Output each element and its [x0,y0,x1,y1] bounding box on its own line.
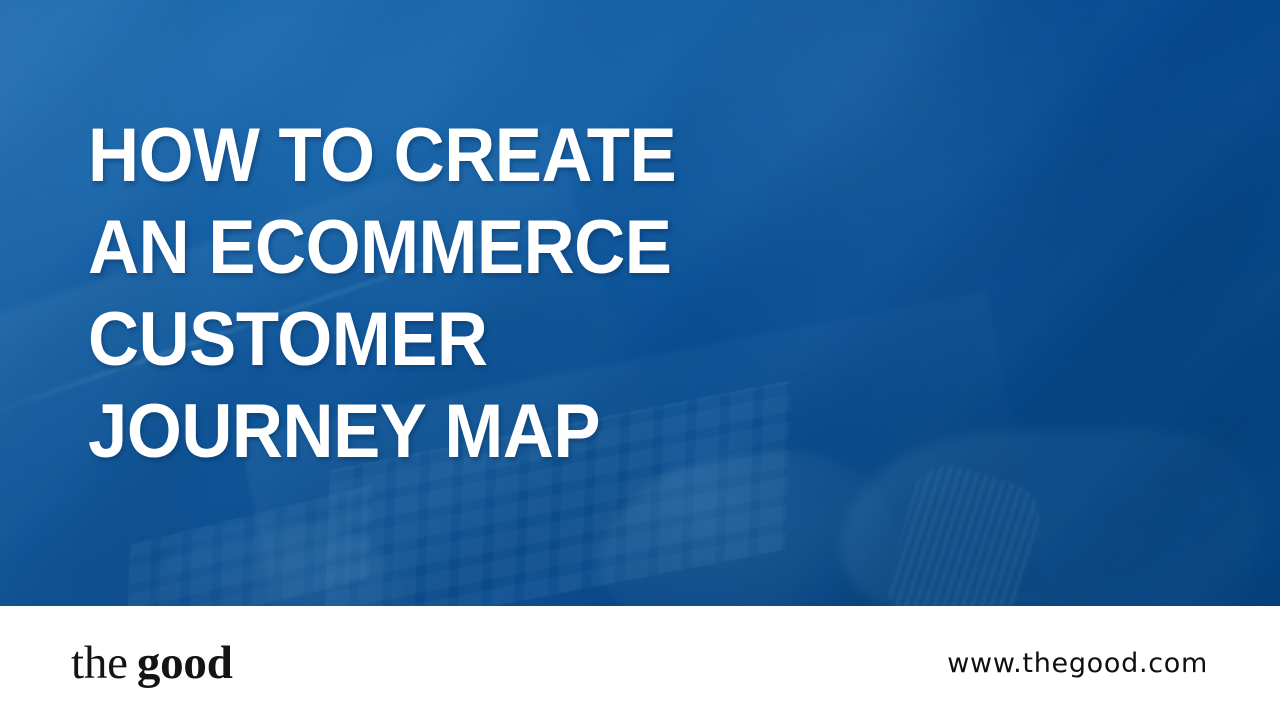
brand-logo-good: good [137,640,233,687]
title-line-4: JOURNEY MAP [88,386,1018,478]
brand-logo-the: the [71,640,128,687]
website-url: www.thegood.com [947,648,1208,679]
title-line-3: CUSTOMER [88,294,1018,386]
brand-logo: thegood [71,640,233,687]
title-line-2: AN ECOMMERCE [88,202,1018,294]
title-slide: HOW TO CREATE AN ECOMMERCE CUSTOMER JOUR… [0,0,1280,720]
hero-banner: HOW TO CREATE AN ECOMMERCE CUSTOMER JOUR… [0,0,1280,606]
footer-bar: thegood www.thegood.com [0,606,1280,720]
title-line-1: HOW TO CREATE [88,110,1018,202]
page-title: HOW TO CREATE AN ECOMMERCE CUSTOMER JOUR… [88,110,1088,478]
